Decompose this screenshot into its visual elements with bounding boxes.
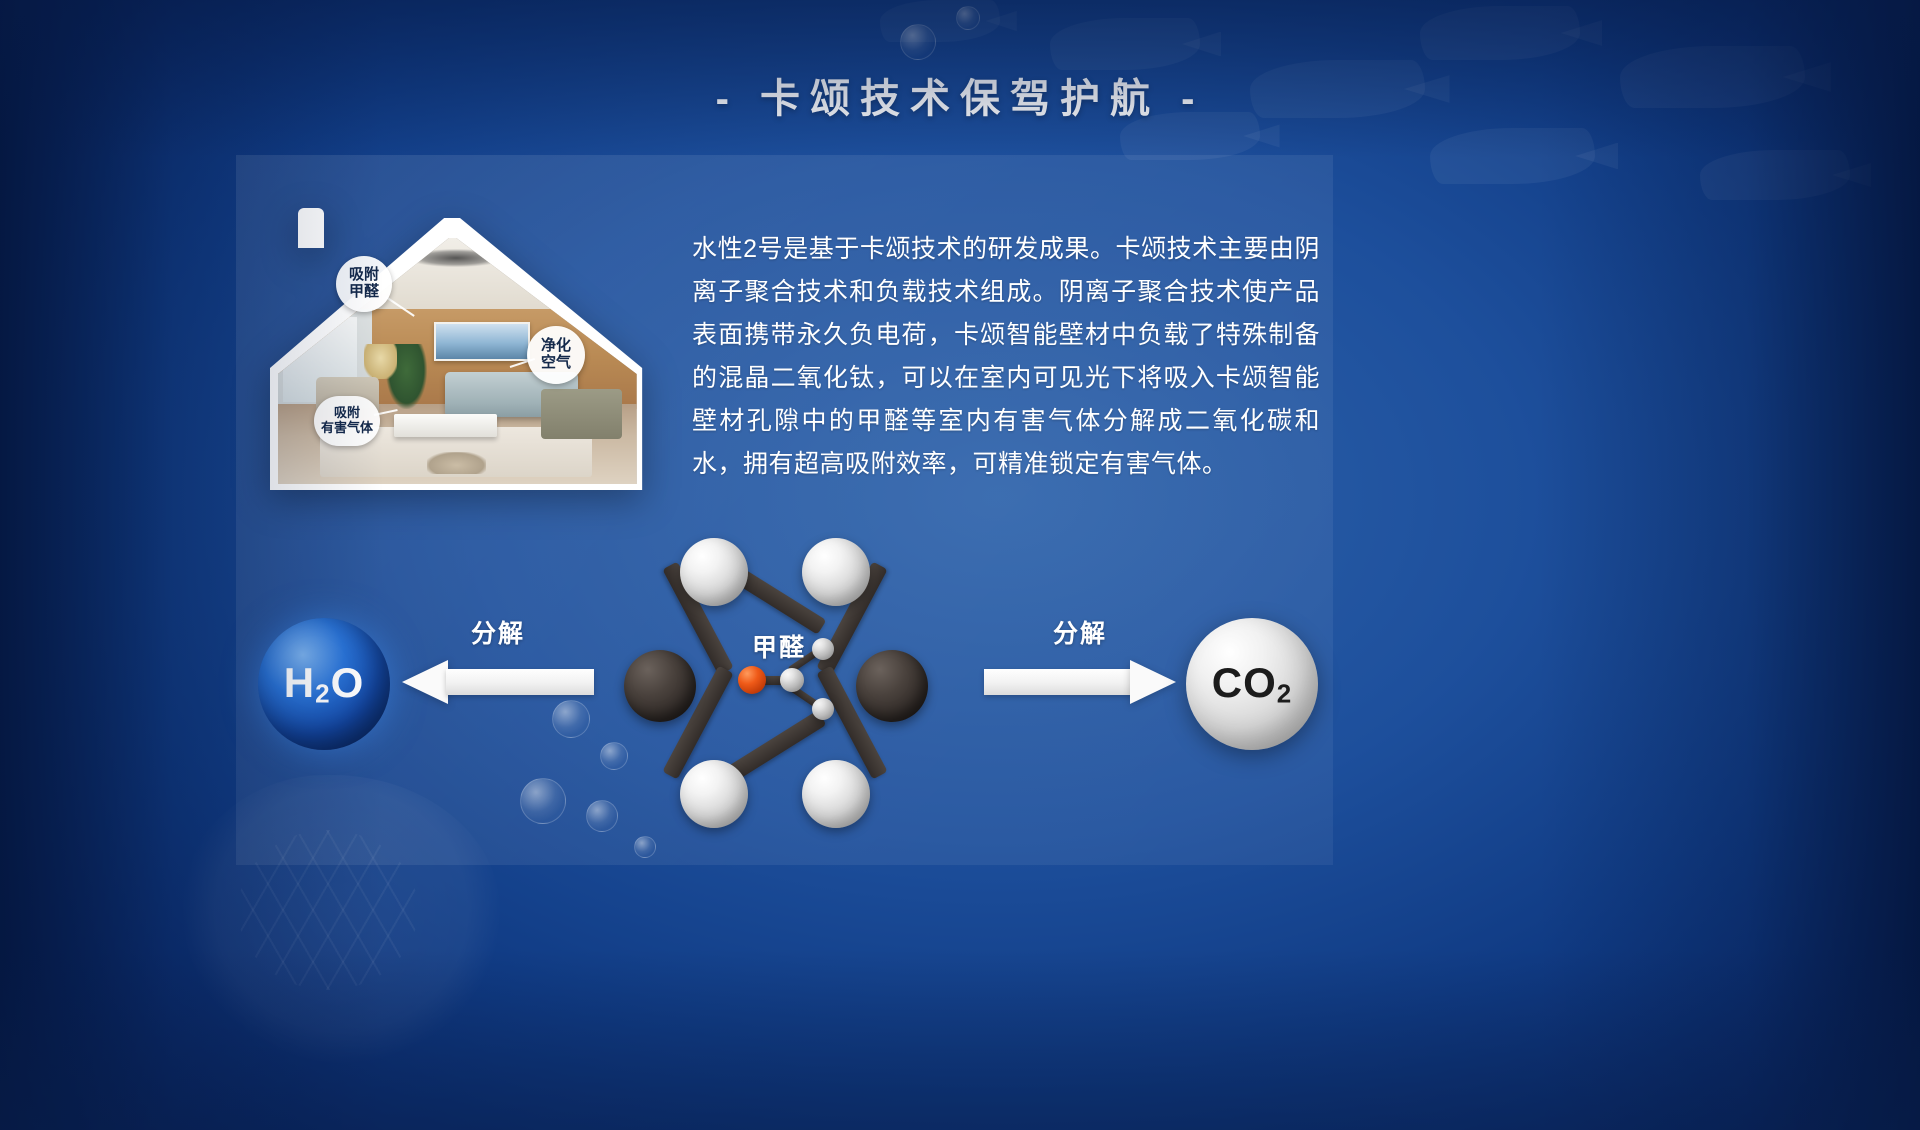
atom-carbon-bottom-left <box>680 760 748 828</box>
fish-silhouette <box>1430 128 1595 184</box>
photo-dog <box>427 452 486 475</box>
photo-wall-art <box>434 322 530 361</box>
arrow-left-head <box>402 660 448 704</box>
photo-coffee-table <box>394 414 497 437</box>
atom-carbon-center <box>780 668 804 692</box>
arrow-left <box>402 660 594 704</box>
decomposition-diagram: H2O 分解 <box>236 520 1333 865</box>
chimney <box>298 208 324 248</box>
arrow-right-label: 分解 <box>1020 614 1140 650</box>
fish-silhouette <box>1420 6 1580 60</box>
co2-formula: CO2 <box>1212 659 1292 710</box>
arrow-left-label: 分解 <box>438 614 558 650</box>
arrow-right-shaft <box>984 669 1132 695</box>
living-room-photo <box>276 234 644 484</box>
house-label-line1: 吸附 <box>349 267 379 284</box>
house-label-line2: 空气 <box>541 355 571 372</box>
house-label-line2: 有害气体 <box>321 421 373 436</box>
h2o-sphere: H2O <box>258 618 390 750</box>
fish-silhouette <box>880 0 1000 42</box>
house-label-line2: 甲醛 <box>349 284 379 301</box>
atom-carbon-bottom-right <box>802 760 870 828</box>
fish-silhouette <box>1050 18 1200 70</box>
house-label-line1: 吸附 <box>334 406 360 421</box>
h2o-formula: H2O <box>284 659 364 710</box>
infographic-stage: - 卡颂技术保驾护航 - <box>0 0 1920 1130</box>
house-label-adsorb-harmful-gas: 吸附 有害气体 <box>314 396 380 446</box>
body-paragraph: 水性2号是基于卡颂技术的研发成果。卡颂技术主要由阴离子聚合技术和负载技术组成。阴… <box>692 228 1320 486</box>
co2-sphere: CO2 <box>1186 618 1318 750</box>
molecule-ring: 甲醛 <box>624 532 934 852</box>
photo-armchair-right <box>541 389 622 439</box>
atom-carbon-top-right <box>802 538 870 606</box>
bubble <box>900 24 936 60</box>
arrow-left-shaft <box>446 669 594 695</box>
atom-oxygen <box>738 666 766 694</box>
house-shape <box>262 200 658 496</box>
house-label-line1: 净化 <box>541 338 571 355</box>
house-label-purify-air: 净化 空气 <box>527 326 585 384</box>
atom-carbon-top-left <box>680 538 748 606</box>
page-title: - 卡颂技术保驾护航 - <box>0 66 1920 124</box>
bubble <box>956 6 980 30</box>
arrow-right-head <box>1130 660 1176 704</box>
arrow-right <box>984 660 1176 704</box>
fish-silhouette <box>1700 150 1850 200</box>
house-illustration: 吸附 甲醛 净化 空气 吸附 有害气体 <box>262 200 658 496</box>
molecule-label: 甲醛 <box>624 628 934 664</box>
photo-floor-lamp <box>364 344 397 379</box>
house-label-adsorb-formaldehyde: 吸附 甲醛 <box>336 256 392 312</box>
atom-hydrogen-lower <box>812 698 834 720</box>
